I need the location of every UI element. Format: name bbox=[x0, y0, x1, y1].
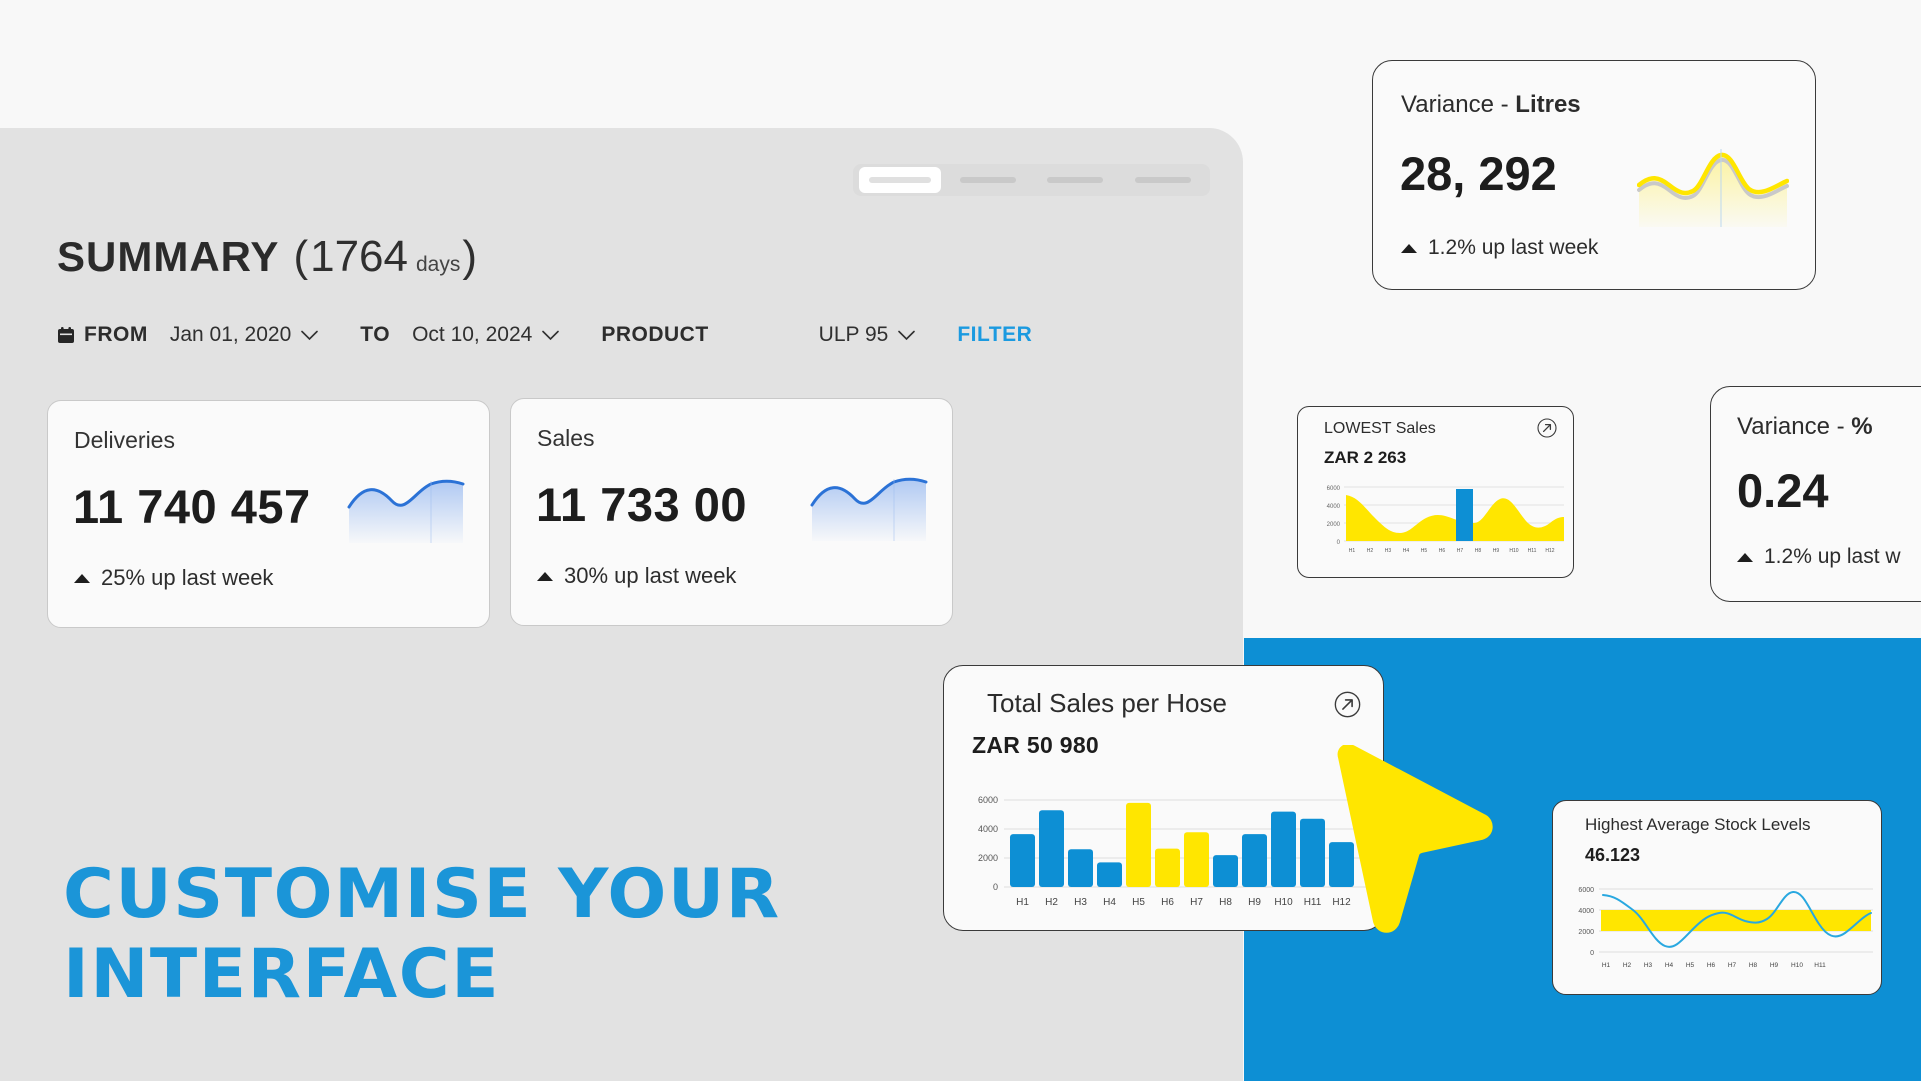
to-date-value[interactable]: Oct 10, 2024 bbox=[412, 323, 532, 347]
svg-text:H7: H7 bbox=[1457, 548, 1464, 554]
svg-text:H11: H11 bbox=[1304, 897, 1322, 908]
svg-text:H8: H8 bbox=[1219, 897, 1232, 908]
variance-pct-title-strong: % bbox=[1851, 413, 1872, 440]
svg-text:6000: 6000 bbox=[1578, 887, 1594, 894]
card-variance-percent[interactable]: Variance - % 0.24 1.2% up last w bbox=[1710, 386, 1921, 602]
svg-text:H2: H2 bbox=[1045, 897, 1058, 908]
svg-text:H7: H7 bbox=[1728, 962, 1737, 969]
product-value[interactable]: ULP 95 bbox=[819, 323, 889, 347]
svg-text:H10: H10 bbox=[1274, 897, 1293, 908]
deliveries-sparkline-chart bbox=[347, 473, 465, 545]
svg-text:H11: H11 bbox=[1814, 962, 1826, 969]
kpi-sales-title: Sales bbox=[537, 425, 595, 452]
kpi-sales-delta-text: 30% up last week bbox=[564, 563, 736, 589]
variance-litres-delta: 1.2% up last week bbox=[1401, 236, 1598, 260]
filter-bar: FROM Jan 01, 2020 TO Oct 10, 2024 PRODUC… bbox=[57, 320, 1032, 350]
svg-text:H9: H9 bbox=[1248, 897, 1261, 908]
lowest-sales-chart: 6000 4000 2000 0 H1H2H3 H4H5H6 H7H8H9 H1… bbox=[1306, 479, 1568, 571]
screenshot-root: SUMMARY ( 1764 days ) FROM Jan 01, 2020 … bbox=[0, 0, 1921, 1081]
variance-litres-sparkline-chart bbox=[1637, 149, 1789, 229]
total-sales-value: ZAR 50 980 bbox=[972, 732, 1099, 759]
card-lowest-sales[interactable]: LOWEST Sales ZAR 2 263 6000 4000 2000 0 bbox=[1297, 406, 1574, 578]
calendar-icon bbox=[57, 326, 75, 344]
pointer-arrow-icon bbox=[1335, 745, 1495, 935]
svg-text:4000: 4000 bbox=[978, 824, 998, 834]
total-sales-title: Total Sales per Hose bbox=[987, 688, 1227, 719]
product-chevron-down-icon[interactable] bbox=[898, 323, 915, 347]
summary-title-text: SUMMARY bbox=[57, 233, 279, 281]
from-date-value[interactable]: Jan 01, 2020 bbox=[170, 323, 291, 347]
variance-litres-title: Variance - Litres bbox=[1401, 91, 1581, 119]
kpi-sales-value: 11 733 00 bbox=[536, 477, 747, 532]
svg-text:H4: H4 bbox=[1103, 897, 1116, 908]
total-sales-bar-chart: 6000 4000 2000 0 bbox=[950, 788, 1380, 926]
card-total-sales-per-hose[interactable]: Total Sales per Hose ZAR 50 980 6000 400… bbox=[943, 665, 1384, 931]
svg-text:H3: H3 bbox=[1074, 897, 1087, 908]
variance-pct-delta-text: 1.2% up last w bbox=[1764, 545, 1901, 569]
summary-open-paren: ( bbox=[293, 232, 308, 282]
trend-up-icon bbox=[1737, 553, 1753, 562]
svg-text:H2: H2 bbox=[1623, 962, 1632, 969]
svg-text:H6: H6 bbox=[1707, 962, 1716, 969]
svg-text:H3: H3 bbox=[1644, 962, 1653, 969]
card-highest-average-stock-levels[interactable]: Highest Average Stock Levels 46.123 6000… bbox=[1552, 800, 1882, 995]
svg-text:H12: H12 bbox=[1545, 548, 1554, 554]
variance-pct-title: Variance - % bbox=[1737, 413, 1873, 441]
stock-levels-title: Highest Average Stock Levels bbox=[1585, 815, 1811, 835]
filter-button[interactable]: FILTER bbox=[957, 323, 1032, 347]
svg-text:2000: 2000 bbox=[978, 853, 998, 863]
svg-text:H3: H3 bbox=[1385, 548, 1392, 554]
variance-litres-delta-text: 1.2% up last week bbox=[1428, 236, 1598, 260]
tab-3[interactable] bbox=[1035, 167, 1117, 193]
product-label: PRODUCT bbox=[601, 323, 708, 347]
summary-close-paren: ) bbox=[462, 232, 477, 282]
variance-pct-delta: 1.2% up last w bbox=[1737, 545, 1901, 569]
to-label: TO bbox=[360, 323, 390, 347]
variance-litres-value: 28, 292 bbox=[1400, 146, 1557, 201]
card-variance-litres[interactable]: Variance - Litres 28, 292 1.2% up last w… bbox=[1372, 60, 1816, 290]
svg-text:2000: 2000 bbox=[1578, 929, 1594, 936]
from-chevron-down-icon[interactable] bbox=[301, 323, 318, 347]
svg-text:H8: H8 bbox=[1749, 962, 1758, 969]
summary-day-count: 1764 bbox=[310, 232, 408, 282]
expand-arrow-icon[interactable] bbox=[1537, 418, 1561, 442]
stock-levels-value: 46.123 bbox=[1585, 845, 1640, 866]
headline-line-2: INTERFACE bbox=[63, 935, 781, 1015]
trend-up-icon bbox=[537, 572, 553, 581]
svg-text:H5: H5 bbox=[1132, 897, 1145, 908]
svg-text:H8: H8 bbox=[1475, 548, 1482, 554]
svg-text:H2: H2 bbox=[1367, 548, 1374, 554]
tab-4[interactable] bbox=[1122, 167, 1204, 193]
svg-text:0: 0 bbox=[1337, 540, 1341, 546]
svg-text:6000: 6000 bbox=[1327, 486, 1341, 492]
svg-text:H1: H1 bbox=[1016, 897, 1029, 908]
svg-text:H7: H7 bbox=[1190, 897, 1203, 908]
variance-pct-value: 0.24 bbox=[1737, 463, 1828, 518]
sales-sparkline-chart bbox=[810, 471, 928, 543]
tab-1[interactable] bbox=[859, 167, 941, 193]
tab-3-label bbox=[1047, 177, 1103, 183]
headline-line-1: CUSTOMISE YOUR bbox=[63, 855, 781, 935]
expand-arrow-icon[interactable] bbox=[1334, 691, 1361, 718]
svg-text:0: 0 bbox=[1590, 950, 1594, 957]
svg-text:H1: H1 bbox=[1349, 548, 1356, 554]
kpi-deliveries-delta: 25% up last week bbox=[74, 565, 273, 591]
lowest-sales-value: ZAR 2 263 bbox=[1324, 448, 1406, 468]
svg-text:H5: H5 bbox=[1421, 548, 1428, 554]
svg-text:H10: H10 bbox=[1791, 962, 1803, 969]
kpi-card-deliveries[interactable]: Deliveries 11 740 457 25% up last week bbox=[47, 400, 490, 628]
tab-bar[interactable] bbox=[853, 164, 1210, 196]
svg-text:H4: H4 bbox=[1665, 962, 1674, 969]
variance-pct-title-prefix: Variance - bbox=[1737, 413, 1851, 440]
summary-day-unit: days bbox=[416, 253, 460, 277]
svg-text:H1: H1 bbox=[1602, 962, 1611, 969]
kpi-deliveries-value: 11 740 457 bbox=[73, 479, 311, 534]
svg-text:H4: H4 bbox=[1403, 548, 1410, 554]
kpi-sales-delta: 30% up last week bbox=[537, 563, 736, 589]
trend-up-icon bbox=[74, 574, 90, 583]
to-chevron-down-icon[interactable] bbox=[542, 323, 559, 347]
tab-4-label bbox=[1135, 177, 1191, 183]
svg-text:0: 0 bbox=[993, 882, 998, 892]
tab-2-label bbox=[960, 177, 1016, 183]
svg-text:2000: 2000 bbox=[1327, 522, 1341, 528]
variance-litres-title-strong: Litres bbox=[1515, 91, 1580, 118]
tab-1-label bbox=[869, 177, 931, 183]
lowest-sales-title: LOWEST Sales bbox=[1324, 420, 1436, 438]
trend-up-icon bbox=[1401, 244, 1417, 253]
kpi-deliveries-delta-text: 25% up last week bbox=[101, 565, 273, 591]
kpi-card-sales[interactable]: Sales 11 733 00 30% up last week bbox=[510, 398, 953, 626]
svg-text:H10: H10 bbox=[1509, 548, 1518, 554]
variance-litres-title-prefix: Variance - bbox=[1401, 91, 1515, 118]
svg-text:4000: 4000 bbox=[1327, 504, 1341, 510]
tab-2[interactable] bbox=[947, 167, 1029, 193]
svg-text:H9: H9 bbox=[1493, 548, 1500, 554]
svg-text:6000: 6000 bbox=[978, 795, 998, 805]
marketing-headline: CUSTOMISE YOUR INTERFACE bbox=[63, 855, 781, 1015]
stock-levels-line-chart: 6000 4000 2000 0 H1H2H3 H4H5H6 H7H8H9 H1… bbox=[1557, 879, 1879, 989]
kpi-deliveries-title: Deliveries bbox=[74, 427, 175, 454]
svg-text:H9: H9 bbox=[1770, 962, 1779, 969]
svg-text:H6: H6 bbox=[1439, 548, 1446, 554]
svg-text:4000: 4000 bbox=[1578, 908, 1594, 915]
from-label: FROM bbox=[84, 323, 148, 347]
svg-text:H5: H5 bbox=[1686, 962, 1695, 969]
svg-text:H11: H11 bbox=[1528, 548, 1537, 554]
page-title: SUMMARY ( 1764 days ) bbox=[57, 232, 477, 282]
svg-text:H6: H6 bbox=[1161, 897, 1174, 908]
